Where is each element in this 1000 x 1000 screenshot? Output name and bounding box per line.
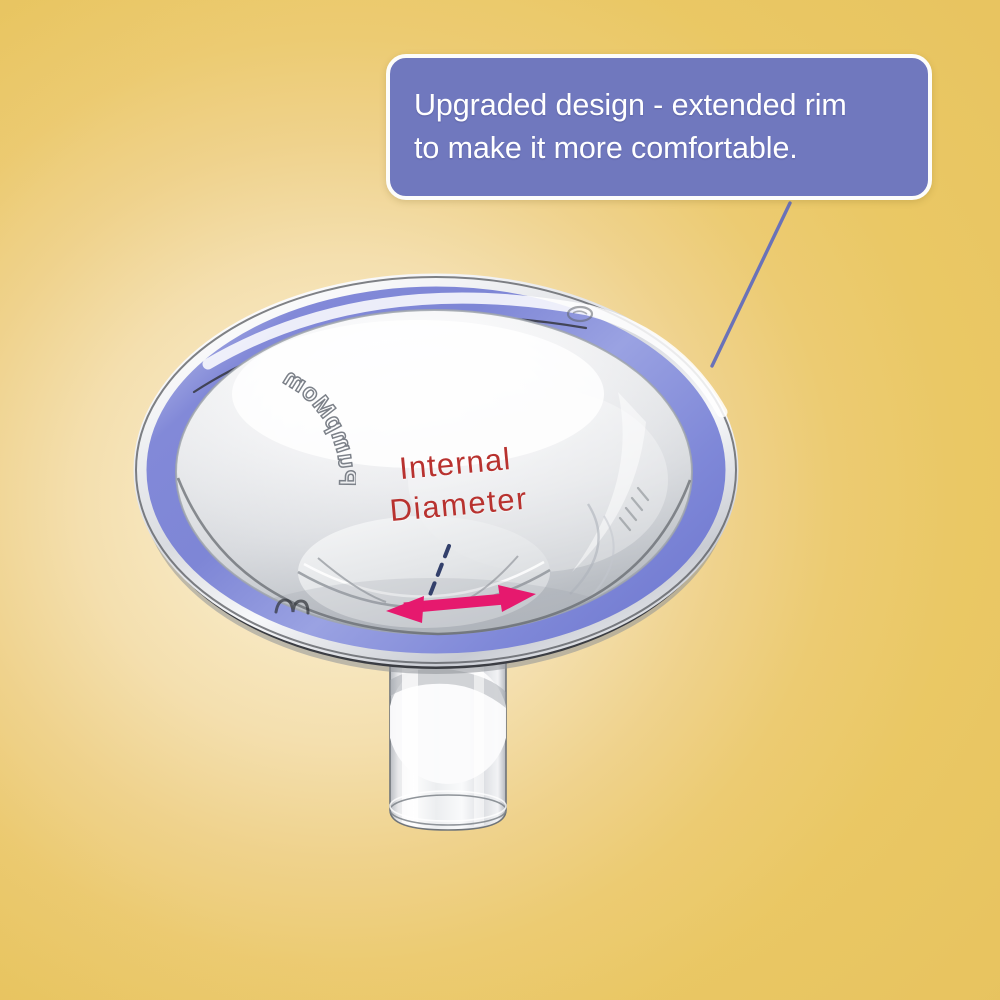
callout-text-block: Upgraded design - extended rim to make i… [414, 84, 847, 171]
callout-line-2: to make it more comfortable. [414, 131, 798, 165]
upgraded-design-callout[interactable]: Upgraded design - extended rim to make i… [386, 54, 932, 200]
breast-pump-flange-product [118, 272, 778, 842]
internal-diameter-label-line1: Internal [398, 441, 513, 486]
product-image-canvas: PumpMom Internal Diameter Upgraded desig… [0, 0, 1000, 1000]
callout-line-1: Upgraded design - extended rim [414, 88, 847, 122]
